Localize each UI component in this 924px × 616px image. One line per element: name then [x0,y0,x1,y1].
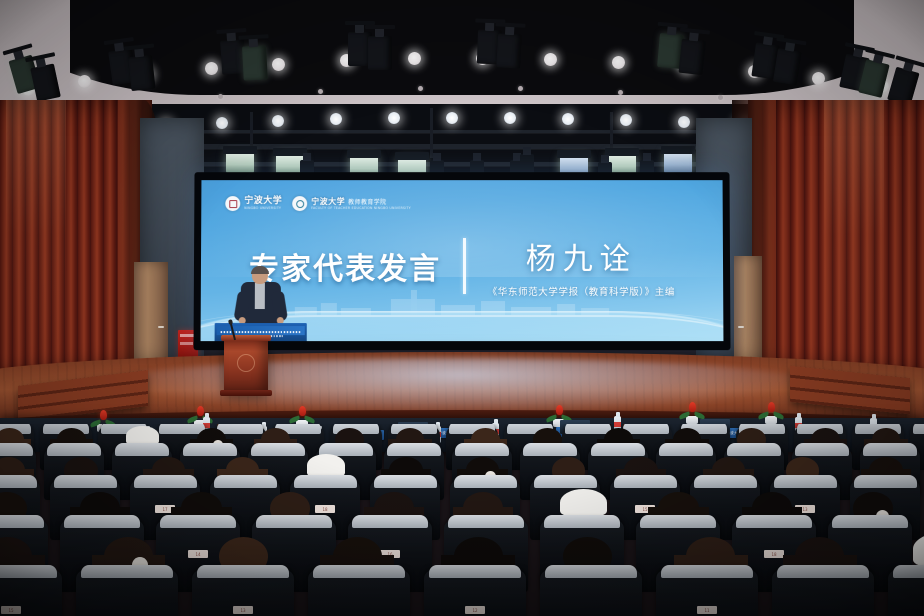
seat-number-text: 11 [704,608,709,613]
baseball-cap [307,454,346,476]
seat-headrest [313,565,405,578]
seat-headrest [0,475,37,488]
podium-base [220,390,272,396]
circular-seal-icon [292,196,307,211]
auditorium-seat [540,570,642,616]
logo-text-1: 宁波大学 NINGBO UNIVERSITY [244,197,282,211]
baseball-cap [913,533,924,565]
door-knob-right [738,326,744,328]
seat-headrest [251,443,305,456]
seat-number-text: 15 [642,507,647,512]
seat-headrest [863,443,917,456]
baseball-cap [560,489,606,516]
seat-headrest [448,515,524,528]
shield-gate-icon [225,196,240,211]
ceiling-downlight [612,56,625,69]
seat-number-tag: 18 [764,550,784,558]
flower-bloom [197,406,204,416]
seat-headrest [544,515,620,528]
logo-ningbo-university: 宁波大学 NINGBO UNIVERSITY [225,196,282,211]
seat-headrest [893,565,924,578]
seat-headrest [614,475,677,488]
ceiling-par-can [679,39,706,75]
seat-number-tag: 11 [697,606,717,614]
rig-lamp-shade [557,150,591,158]
seat-number-text: 13 [802,507,807,512]
ceiling-downlight [272,58,285,71]
auditorium-seat [76,570,178,616]
rig-downlight [678,116,690,128]
rig-lamp-shade [395,152,429,160]
seat-number-tag: 15 [1,606,21,614]
seat-number-tag: 14 [188,550,208,558]
seat-headrest [455,443,509,456]
speaker-hair [251,266,269,274]
seat-headrest [183,443,237,456]
flower-bloom [768,402,775,412]
auditorium-seat: 11 [656,570,758,616]
logo-name-en-1: NINGBO UNIVERSITY [244,207,282,210]
rig-lamp-shade [273,148,307,156]
seat-headrest [694,475,757,488]
seat-headrest [454,475,517,488]
rig-downlight [504,112,516,124]
seat-headrest [854,475,917,488]
speaker-shirt [255,283,265,309]
seat-number-text: 15 [8,608,13,613]
university-crest-icon [237,354,255,372]
slide-speaker-block: 杨九诠 《华东师范大学学报（教育科学版）》主编 [488,234,675,298]
seat-headrest [47,443,101,456]
podium [224,338,268,392]
seat-headrest [774,475,837,488]
logo-name-cn-2: 宁波大学 [311,197,345,205]
speaker-name: 杨九诠 [526,234,637,278]
seat-headrest [54,475,117,488]
seat-headrest [727,443,781,456]
slide-surface: 宁波大学 NINGBO UNIVERSITY 宁波大学 教师教育学院 FACUL… [201,180,724,341]
seat-headrest [134,475,197,488]
seat-number-tag: 12 [465,606,485,614]
seat-headrest [256,515,332,528]
flower-pot [686,416,698,424]
seat-headrest [0,515,44,528]
seat-headrest [352,515,428,528]
logo-department-cn: 教师教育学院 [348,200,386,206]
seat-headrest [0,565,57,578]
seat-headrest [777,565,869,578]
flower-arrangement [758,400,784,424]
seat-headrest [387,443,441,456]
rig-downlight [272,115,284,127]
auditorium-seat [308,570,410,616]
seat-number-text: 18 [771,552,776,557]
seat-headrest [640,515,716,528]
slide-divider [463,238,466,294]
stage-floor-reflection [110,358,810,414]
seat-number-text: 13 [240,608,245,613]
truss-post-2 [430,108,433,158]
seat-number-tag: 13 [233,606,253,614]
seat-headrest [795,443,849,456]
auditorium-seat: 12 [424,570,526,616]
flower-bloom [689,402,696,412]
seat-headrest [591,443,645,456]
rig-fresnel-lamp [664,152,692,173]
rig-lamp-shade [347,150,381,158]
seat-headrest [545,565,637,578]
rig-lamp-shade [605,148,639,156]
seat-headrest [736,515,812,528]
seat-headrest [81,565,173,578]
rig-downlight [388,112,400,124]
seat-number-text: 14 [195,552,200,557]
logo-name-cn-1: 宁波大学 [244,197,282,206]
flower-bloom [100,410,107,420]
ceiling-recessed-light [618,90,623,95]
seat-headrest [659,443,713,456]
ceiling-par-can [128,55,155,91]
ceiling-par-can [242,45,268,80]
rig-downlight [446,112,458,124]
rig-lamp-shade [661,146,695,154]
seat-number-text: 17 [162,507,167,512]
auditorium-seat: 15 [0,570,62,616]
seat-headrest [197,565,289,578]
speaker-role: 《华东师范大学学报（教育科学版）》主编 [488,284,675,298]
rig-downlight [620,114,632,126]
seat-headrest [374,475,437,488]
extinguisher-label-line2 [180,342,193,345]
slide-logo-row: 宁波大学 NINGBO UNIVERSITY 宁波大学 教师教育学院 FACUL… [225,196,411,211]
logo-faculty-teacher-education: 宁波大学 教师教育学院 FACULTY OF TEACHER EDUCATION… [292,196,411,211]
podium-top [221,335,271,341]
rig-fresnel-lamp [226,152,254,173]
seat-headrest [832,515,908,528]
ceiling-par-can [496,33,522,68]
podium-banner [217,326,305,335]
seat-headrest [523,443,577,456]
rig-lamp-shade [223,146,257,154]
seat-number-text: 12 [472,608,477,613]
audience-seating: 161718191513121114161718191513121114 [0,424,924,616]
flower-pot [765,416,777,424]
seat-headrest [913,424,924,434]
door-knob-left [158,326,164,328]
seat-number-text: 18 [322,507,327,512]
auditorium-seat: 14 [888,570,924,616]
seat-number-tag: 18 [315,505,335,513]
ceiling-par-can [368,36,392,70]
rig-downlight [562,113,574,125]
seat-headrest [115,443,169,456]
flower-bloom [299,406,306,416]
seat-headrest [64,515,140,528]
rig-downlight [216,117,228,129]
ceiling-downlight [812,72,825,85]
seat-headrest [0,443,33,456]
auditorium-seat [772,570,874,616]
seat-headrest [429,565,521,578]
flower-bloom [556,405,563,415]
led-screen: 宁波大学 NINGBO UNIVERSITY 宁波大学 教师教育学院 FACUL… [193,172,730,350]
ceiling-recessed-light [318,89,323,94]
auditorium-seat: 13 [192,570,294,616]
seat-headrest [534,475,597,488]
logo-text-2: 宁波大学 教师教育学院 FACULTY OF TEACHER EDUCATION… [311,197,411,211]
seat-headrest [160,515,236,528]
auditorium-photo: 宁波大学 NINGBO UNIVERSITY 宁波大学 教师教育学院 FACUL… [0,0,924,616]
rig-downlight [330,113,342,125]
logo-name-en-2: FACULTY OF TEACHER EDUCATION NINGBO UNIV… [311,207,411,210]
seat-headrest [661,565,753,578]
seat-headrest [214,475,277,488]
seat-headrest [294,475,357,488]
